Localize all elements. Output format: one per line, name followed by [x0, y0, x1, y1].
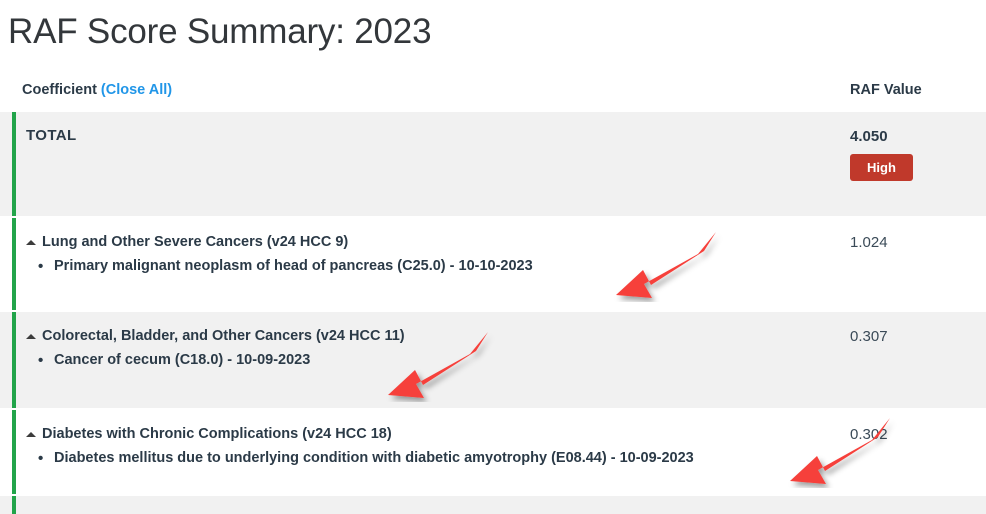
- hcc-group-1: Lung and Other Severe Cancers (v24 HCC 9…: [22, 232, 850, 277]
- diagnosis-list-3: Diabetes mellitus due to underlying cond…: [26, 448, 850, 469]
- diagnosis-list-1: Primary malignant neoplasm of head of pa…: [26, 256, 850, 277]
- caret-up-icon[interactable]: [26, 240, 36, 245]
- hcc-raf-value-1: 1.024: [850, 232, 972, 253]
- raf-score-table: Coefficient(Close All) RAF Value TOTAL 4…: [0, 82, 986, 514]
- caret-up-icon[interactable]: [26, 432, 36, 437]
- page-title: RAF Score Summary: 2023: [8, 8, 986, 56]
- hcc-title-2: Colorectal, Bladder, and Other Cancers (…: [42, 326, 405, 346]
- row-accent-bar: [12, 112, 16, 216]
- table-row-hcc-3[interactable]: Diabetes with Chronic Complications (v24…: [0, 410, 986, 494]
- column-header-coefficient: Coefficient(Close All): [22, 82, 172, 98]
- caret-up-icon[interactable]: [26, 334, 36, 339]
- row-accent-bar: [12, 218, 16, 310]
- list-item[interactable]: Cancer of cecum (C18.0) - 10-09-2023: [54, 350, 850, 371]
- hcc-toggle-1[interactable]: Lung and Other Severe Cancers (v24 HCC 9…: [26, 232, 850, 252]
- hcc-toggle-3[interactable]: Diabetes with Chronic Complications (v24…: [26, 424, 850, 444]
- hcc-toggle-2[interactable]: Colorectal, Bladder, and Other Cancers (…: [26, 326, 850, 346]
- hcc-raf-value-2: 0.307: [850, 326, 972, 347]
- hcc-title-1: Lung and Other Severe Cancers (v24 HCC 9…: [42, 232, 348, 252]
- total-row-main: TOTAL: [22, 126, 850, 146]
- table-row-total: TOTAL 4.050 High: [0, 112, 986, 216]
- column-header-raf-value: RAF Value: [850, 82, 972, 98]
- column-header-coefficient-label: Coefficient: [22, 82, 97, 98]
- list-item[interactable]: Diabetes mellitus due to underlying cond…: [54, 448, 850, 469]
- row-accent-bar: [12, 496, 16, 514]
- table-row-hcc-4-partial[interactable]: [0, 496, 986, 514]
- total-row-value-cell: 4.050 High: [850, 126, 972, 181]
- hcc-group-3: Diabetes with Chronic Complications (v24…: [22, 424, 850, 469]
- table-row-hcc-2[interactable]: Colorectal, Bladder, and Other Cancers (…: [0, 312, 986, 408]
- total-raf-value: 4.050: [850, 127, 972, 147]
- hcc-group-2: Colorectal, Bladder, and Other Cancers (…: [22, 326, 850, 371]
- hcc-title-3: Diabetes with Chronic Complications (v24…: [42, 424, 392, 444]
- list-item[interactable]: Primary malignant neoplasm of head of pa…: [54, 256, 850, 277]
- close-all-link[interactable]: (Close All): [101, 82, 172, 98]
- hcc-raf-value-3: 0.302: [850, 424, 972, 445]
- total-label: TOTAL: [26, 126, 850, 146]
- table-header-row: Coefficient(Close All) RAF Value: [0, 82, 986, 112]
- table-body: TOTAL 4.050 High Lung and Other Severe C…: [0, 112, 986, 514]
- diagnosis-list-2: Cancer of cecum (C18.0) - 10-09-2023: [26, 350, 850, 371]
- row-accent-bar: [12, 410, 16, 494]
- status-badge-high: High: [850, 154, 913, 181]
- table-row-hcc-1[interactable]: Lung and Other Severe Cancers (v24 HCC 9…: [0, 218, 986, 310]
- row-accent-bar: [12, 312, 16, 408]
